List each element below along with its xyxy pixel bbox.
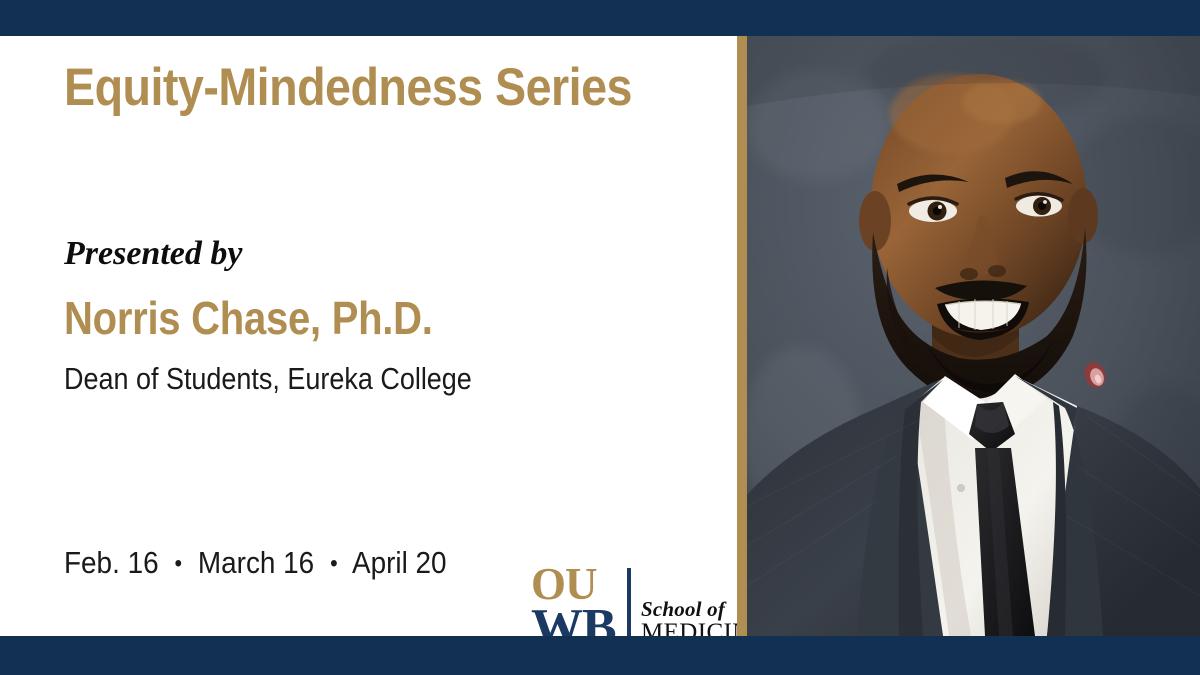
session-date-3: April 20 <box>352 545 447 580</box>
speaker-role: Dean of Students, Eureka College <box>64 362 472 396</box>
speaker-portrait-illustration <box>747 36 1200 636</box>
speaker-portrait-photo <box>747 36 1200 636</box>
logo-divider-rule <box>627 568 631 643</box>
bottom-navy-bar <box>0 636 1200 675</box>
date-separator-bullet-1: • <box>166 551 190 577</box>
top-navy-bar <box>0 0 1200 36</box>
presented-by-label: Presented by <box>64 235 242 272</box>
content-panel: Equity-Mindedness Series Presented by No… <box>0 36 737 636</box>
presentation-slide: Equity-Mindedness Series Presented by No… <box>0 0 1200 675</box>
gold-vertical-divider <box>737 36 747 636</box>
logo-ou-text: OU <box>531 565 627 604</box>
speaker-name: Norris Chase, Ph.D. <box>64 294 433 344</box>
ouwb-school-of-medicine-logo: OU WB School of MEDICINE <box>531 565 717 647</box>
session-date-2: March 16 <box>198 545 314 580</box>
session-date-1: Feb. 16 <box>64 545 159 580</box>
series-title: Equity-Mindedness Series <box>64 59 632 116</box>
date-separator-bullet-2: • <box>322 551 346 577</box>
session-dates: Feb. 16 • March 16 • April 20 <box>64 546 447 580</box>
